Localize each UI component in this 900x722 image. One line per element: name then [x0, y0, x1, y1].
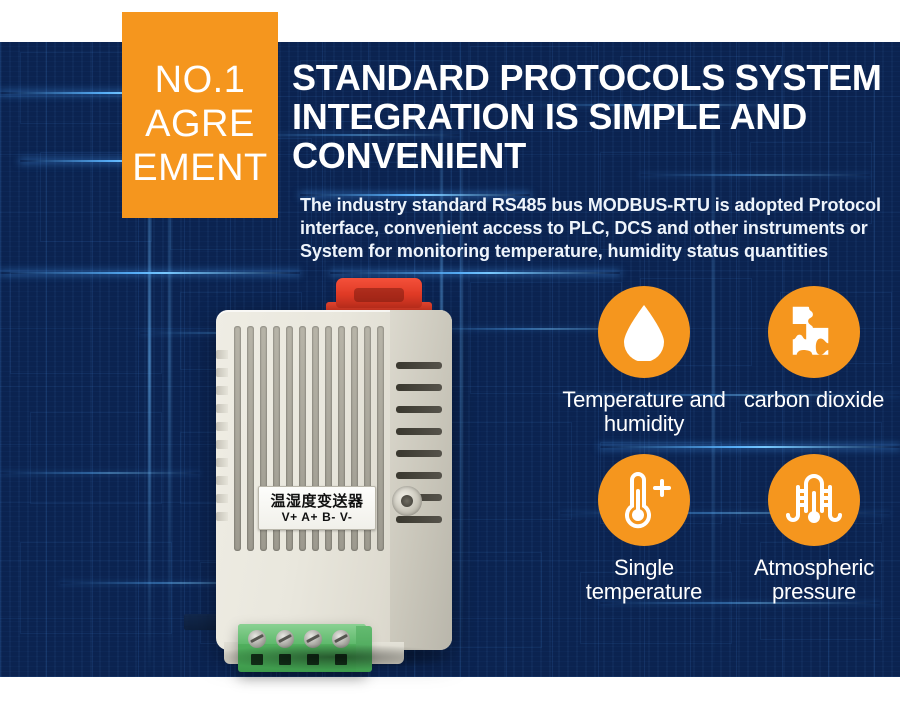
feature-label: Temperature and humidity [560, 388, 728, 436]
feature-label: Atmospheric pressure [730, 556, 898, 604]
device-screw-boss [392, 486, 422, 516]
feature-label: carbon dioxide [730, 388, 898, 412]
badge-line-1: NO.1 [155, 58, 246, 102]
badge-line-2: AGRE [145, 102, 255, 146]
device-label-terminals: V+ A+ B- V- [282, 510, 353, 524]
din-rail-clip [336, 278, 422, 308]
no1-agreement-badge: NO.1 AGRE EMENT [122, 12, 278, 218]
feature-grid: Temperature and humidity carbon dioxide [560, 286, 900, 626]
product-banner: NO.1 AGRE EMENT STANDARD PROTOCOLS SYSTE… [0, 0, 900, 722]
page-title: STANDARD PROTOCOLS SYSTEM INTEGRATION IS… [292, 58, 892, 175]
feature-carbon-dioxide: carbon dioxide [730, 286, 898, 412]
product-device: 温湿度变送器 V+ A+ B- V- [196, 278, 456, 678]
device-label-chinese: 温湿度变送器 [270, 493, 363, 510]
description-text: The industry standard RS485 bus MODBUS-R… [300, 194, 892, 263]
feature-atmospheric-pressure: Atmospheric pressure [730, 454, 898, 604]
device-ground-shadow [208, 644, 458, 670]
feature-label: Single temperature [560, 556, 728, 604]
water-droplet-icon [598, 286, 690, 378]
atmospheric-pressure-icon [768, 454, 860, 546]
feature-temperature-humidity: Temperature and humidity [560, 286, 728, 436]
thermometer-plus-icon [598, 454, 690, 546]
device-left-teeth [216, 350, 228, 600]
badge-line-3: EMENT [132, 146, 268, 190]
device-label-plate: 温湿度变送器 V+ A+ B- V- [258, 486, 376, 530]
feature-single-temperature: Single temperature [560, 454, 728, 604]
puzzle-piece-icon [768, 286, 860, 378]
device-case: 温湿度变送器 V+ A+ B- V- [216, 310, 452, 650]
